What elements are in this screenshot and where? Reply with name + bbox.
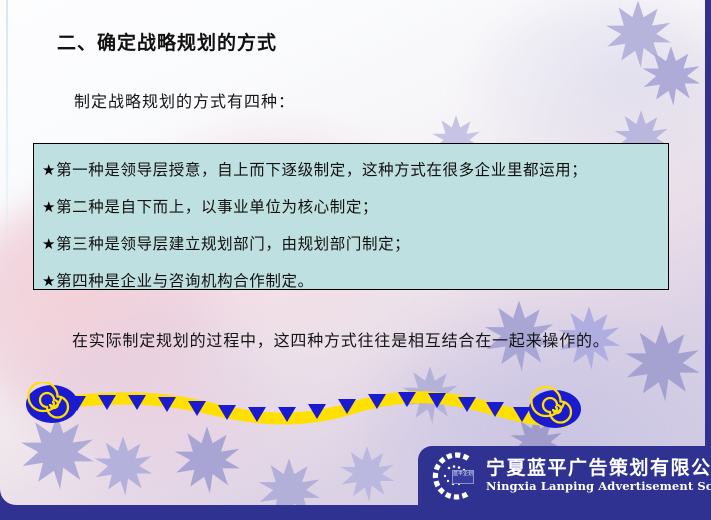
- callout-line-3-text: 第三种是领导层建立规划部门，由规划部门制定；: [56, 235, 410, 253]
- maple-leaf-icon: [603, 0, 673, 74]
- company-emblem-icon: 蓝平企划: [428, 450, 480, 502]
- spiral-ornament-right: [529, 387, 581, 428]
- closing-paragraph: 在实际制定规划的过程中，这四种方式往往是相互结合在一起来操作的。: [72, 327, 610, 351]
- company-name-en: Ningxia Lanping Advertisement Scheme Co.…: [486, 479, 711, 493]
- maple-leaf-icon: [640, 40, 702, 112]
- slide-frame: 二、确定战略规划的方式 制定战略规划的方式有四种： ★第一种是领导层授意，自上而…: [0, 0, 711, 520]
- callout-line-3: ★第三种是领导层建立规划部门，由规划部门制定；: [42, 226, 668, 263]
- page-title: 二、确定战略规划的方式: [57, 28, 277, 55]
- background-left-seam: [6, 0, 8, 300]
- star-bullet-icon: ★: [42, 235, 56, 253]
- maple-leaf-icon: [256, 452, 322, 505]
- maple-leaf-icon: [172, 420, 242, 500]
- callout-line-1-text: 第一种是领导层授意，自上而下逐级制定，这种方式在很多企业里都运用；: [56, 161, 587, 179]
- slide-content-panel: 二、确定战略规划的方式 制定战略规划的方式有四种： ★第一种是领导层授意，自上而…: [0, 0, 705, 505]
- maple-leaf-icon: [338, 440, 396, 505]
- footer-logo-bar: 蓝平企划 宁夏蓝平广告策划有限公司 Ningxia Lanping Advert…: [418, 446, 711, 505]
- star-bullet-icon: ★: [42, 161, 56, 179]
- emblem-chip: 蓝平企划: [452, 470, 474, 484]
- spiral-ornament-left: [26, 382, 78, 423]
- wavy-divider-ornament: [18, 382, 588, 432]
- callout-line-2: ★第二种是自下而上，以事业单位为核心制定；: [42, 189, 668, 226]
- maple-leaf-icon: [92, 430, 154, 502]
- callout-line-1: ★第一种是领导层授意，自上而下逐级制定，这种方式在很多企业里都运用；: [42, 152, 668, 189]
- maple-leaf-icon: [622, 318, 702, 408]
- callout-line-4-text: 第四种是企业与咨询机构合作制定。: [56, 272, 314, 290]
- callout-line-4: ★第四种是企业与咨询机构合作制定。: [42, 263, 668, 300]
- callout-line-2-text: 第二种是自下而上，以事业单位为核心制定；: [56, 198, 378, 216]
- company-name-cn: 宁夏蓝平广告策划有限公司: [486, 453, 711, 480]
- star-bullet-icon: ★: [42, 272, 56, 290]
- star-bullet-icon: ★: [42, 198, 56, 216]
- emblem-chip-label: 蓝平企划: [453, 471, 473, 477]
- lead-paragraph: 制定战略规划的方式有四种：: [74, 88, 295, 112]
- callout-box: ★第一种是领导层授意，自上而下逐级制定，这种方式在很多企业里都运用； ★第二种是…: [33, 143, 669, 290]
